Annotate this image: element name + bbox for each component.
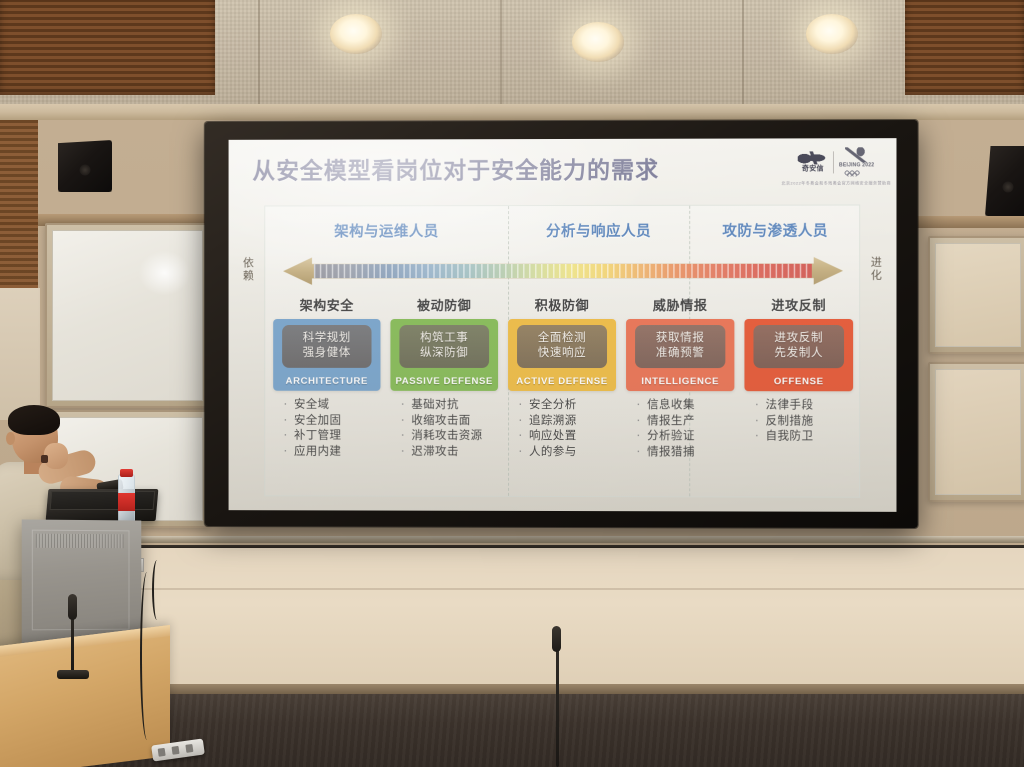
pillar-inner-box: 全面检测 快速响应 xyxy=(517,325,607,368)
wood-shelf-right xyxy=(905,216,1024,228)
pillar-inner-box: 获取情报 准确预警 xyxy=(635,325,725,368)
ceiling-downlight xyxy=(572,22,624,62)
slide-content-panel: 架构与运维人员 分析与响应人员 攻防与渗透人员 依赖 进化 xyxy=(264,205,860,498)
axis-gradient-ticks xyxy=(314,264,811,278)
pillar-english-label: ARCHITECTURE xyxy=(273,373,380,391)
microphone-base-left xyxy=(57,670,89,679)
pillar-architecture: 架构安全 科学规划 强身健体 ARCHITECTURE 安全域 安全加固 补丁管… xyxy=(273,296,380,460)
beijing2022-wordmark: BEIJING 2022 xyxy=(839,162,874,168)
microphone-head-left xyxy=(68,594,77,620)
presenter-wristband xyxy=(41,455,48,463)
pillar-inner-line: 准确预警 xyxy=(635,346,725,361)
list-item: 人的参与 xyxy=(516,444,616,460)
pillar-bullet-list: 法律手段 反制措施 自我防卫 xyxy=(744,398,853,445)
olympic-rings-icon xyxy=(844,169,870,176)
list-item: 收缩攻击面 xyxy=(398,413,498,429)
podium-grille xyxy=(36,534,124,549)
pillar-inner-line: 纵深防御 xyxy=(399,346,489,361)
whiteboard-surface xyxy=(52,230,203,401)
presenter-hair xyxy=(8,405,60,435)
list-item: 安全分析 xyxy=(516,398,616,414)
pillar-bullet-list: 安全分析 追踪溯源 响应处置 人的参与 xyxy=(508,398,616,460)
list-item: 反制措施 xyxy=(752,414,853,430)
personnel-group-row: 架构与运维人员 分析与响应人员 攻防与渗透人员 xyxy=(265,220,859,251)
podium xyxy=(22,519,142,646)
slide-header: 从安全模型看岗位对于安全能力的需求 奇安信 BEIJING 2022 xyxy=(229,138,897,201)
axis-arrow xyxy=(283,256,843,286)
wall-panel-surface xyxy=(935,243,1021,347)
pillar-active-defense: 积极防御 全面检测 快速响应 ACTIVE DEFENSE 安全分析 追踪溯源 … xyxy=(508,296,616,460)
projection-screen-bezel: 从安全模型看岗位对于安全能力的需求 奇安信 BEIJING 2022 xyxy=(205,120,918,528)
wall-panel-right-lower xyxy=(928,362,1024,502)
pillar-title: 被动防御 xyxy=(390,296,498,316)
logo-row: 奇安信 BEIJING 2022 xyxy=(798,147,874,176)
microphone-stem-center xyxy=(556,650,559,767)
wood-slat-wall-left xyxy=(0,0,215,95)
axis-label-dependency: 依赖 xyxy=(241,257,255,283)
list-item: 追踪溯源 xyxy=(516,413,616,429)
speaker-cone-icon xyxy=(1003,181,1014,192)
pillar-bullet-list: 基础对抗 收缩攻击面 消耗攻击资源 迟滞攻击 xyxy=(390,398,498,460)
pillar-inner-line: 获取情报 xyxy=(635,331,725,346)
pillar-card: 构筑工事 纵深防御 PASSIVE DEFENSE xyxy=(390,319,498,391)
wood-slat-wall-right xyxy=(905,0,1024,95)
ceiling-sprinkler xyxy=(270,44,286,57)
ceiling-seam xyxy=(500,0,502,108)
pillar-inner-box: 构筑工事 纵深防御 xyxy=(399,325,489,368)
slide-title: 从安全模型看岗位对于安全能力的需求 xyxy=(252,151,659,186)
list-item: 分析验证 xyxy=(634,429,734,445)
ceiling-seam xyxy=(258,0,260,108)
pillar-inner-line: 科学规划 xyxy=(282,331,371,346)
wall-corner-panel xyxy=(0,288,40,420)
qianxin-mark-icon xyxy=(798,151,828,164)
personnel-group-offense-pentest: 攻防与渗透人员 xyxy=(689,220,861,241)
pillar-inner-line: 构筑工事 xyxy=(399,331,489,346)
qianxin-logo: 奇安信 xyxy=(798,151,828,173)
list-item: 基础对抗 xyxy=(398,398,498,414)
axis-gradient-bar xyxy=(314,264,811,278)
projected-slide: 从安全模型看岗位对于安全能力的需求 奇安信 BEIJING 2022 xyxy=(229,138,897,512)
list-item: 自我防卫 xyxy=(752,429,853,445)
pillar-title: 积极防御 xyxy=(508,296,616,316)
pillar-bullet-list: 安全域 安全加固 补丁管理 应用内建 xyxy=(273,398,380,460)
laptop xyxy=(46,489,159,521)
logo-divider xyxy=(833,151,834,173)
wall-speaker-right xyxy=(985,146,1024,216)
ceiling-downlight xyxy=(806,14,858,54)
pillar-inner-box: 进攻反制 先发制人 xyxy=(753,325,844,368)
list-item: 安全加固 xyxy=(281,413,380,429)
list-item: 响应处置 xyxy=(516,429,616,445)
pillar-english-label: ACTIVE DEFENSE xyxy=(508,373,616,391)
pillar-inner-box: 科学规划 强身健体 xyxy=(282,325,371,368)
axis-label-evolution: 进化 xyxy=(869,257,883,283)
ceiling-seam xyxy=(742,0,744,108)
pillar-card: 科学规划 强身健体 ARCHITECTURE xyxy=(273,319,380,391)
presenter-ear xyxy=(6,432,15,445)
pillar-card: 获取情报 准确预警 INTELLIGENCE xyxy=(626,319,734,391)
pillar-inner-line: 全面检测 xyxy=(517,331,607,346)
pillar-english-label: INTELLIGENCE xyxy=(626,373,734,391)
wall-panel-surface xyxy=(935,369,1021,495)
beijing2022-mark-icon xyxy=(846,147,868,162)
conference-room: 从安全模型看岗位对于安全能力的需求 奇安信 BEIJING 2022 xyxy=(0,0,1024,767)
capability-pillars: 架构安全 科学规划 强身健体 ARCHITECTURE 安全域 安全加固 补丁管… xyxy=(273,296,853,493)
personnel-group-architecture-ops: 架构与运维人员 xyxy=(265,220,508,241)
maturity-axis: 依赖 进化 xyxy=(265,254,859,290)
list-item: 迟滞攻击 xyxy=(398,444,498,460)
ceiling-downlight xyxy=(330,14,382,54)
laptop-screen xyxy=(50,491,156,510)
list-item: 消耗攻击资源 xyxy=(398,429,498,445)
microphone-head-center xyxy=(552,626,561,652)
list-item: 应用内建 xyxy=(281,444,380,460)
list-item: 补丁管理 xyxy=(281,429,380,445)
list-item: 法律手段 xyxy=(752,398,853,414)
list-item: 情报生产 xyxy=(634,414,734,430)
power-socket xyxy=(158,748,166,757)
pillar-passive-defense: 被动防御 构筑工事 纵深防御 PASSIVE DEFENSE 基础对抗 收缩攻击… xyxy=(390,296,498,460)
list-item: 安全域 xyxy=(281,398,380,414)
pillar-card: 进攻反制 先发制人 OFFENSE xyxy=(744,319,853,391)
pillar-card: 全面检测 快速响应 ACTIVE DEFENSE xyxy=(508,319,616,391)
water-bottle-cap xyxy=(120,469,133,477)
pillar-title: 威胁情报 xyxy=(626,296,734,316)
sponsor-caption: 北京2022年冬奥会和冬残奥会官方网络安全服务赞助商 xyxy=(781,181,891,187)
pillar-inner-line: 快速响应 xyxy=(517,346,607,361)
pillar-offense: 进攻反制 进攻反制 先发制人 OFFENSE 法律手段 反制措施 自我防卫 xyxy=(744,296,853,445)
power-socket xyxy=(185,744,193,753)
water-bottle-label xyxy=(118,493,135,511)
microphone-stem-left xyxy=(71,612,74,674)
whiteboard-left xyxy=(45,223,210,408)
speaker-cone-icon xyxy=(80,165,91,176)
pillar-inner-line: 先发制人 xyxy=(753,346,844,361)
pillar-title: 架构安全 xyxy=(273,296,380,316)
personnel-group-analysis-response: 分析与响应人员 xyxy=(508,220,689,241)
pillar-title: 进攻反制 xyxy=(744,296,853,316)
pillar-inner-line: 强身健体 xyxy=(282,346,371,361)
list-item: 情报猎捕 xyxy=(634,445,734,461)
whiteboard-glare xyxy=(139,251,190,295)
list-item: 信息收集 xyxy=(634,398,734,414)
pillar-english-label: PASSIVE DEFENSE xyxy=(390,373,498,391)
pillar-bullet-list: 信息收集 情报生产 分析验证 情报猎捕 xyxy=(626,398,734,460)
wall-rail-metal xyxy=(0,536,1024,543)
pillar-inner-line: 进攻反制 xyxy=(753,331,844,346)
power-socket xyxy=(172,746,180,755)
wall-speaker-left xyxy=(58,140,112,192)
pillar-intelligence: 威胁情报 获取情报 准确预警 INTELLIGENCE 信息收集 情报生产 分析… xyxy=(626,296,734,460)
av-cable xyxy=(152,560,162,620)
beijing2022-logo: BEIJING 2022 xyxy=(839,147,874,176)
sponsor-logo-block: 奇安信 BEIJING 2022 北京2022年冬奥会和冬残奥会官方网络安全服务… xyxy=(790,147,883,193)
qianxin-brand-name: 奇安信 xyxy=(802,165,824,173)
wall-panel-right-upper xyxy=(928,236,1024,354)
pillar-english-label: OFFENSE xyxy=(744,373,853,391)
